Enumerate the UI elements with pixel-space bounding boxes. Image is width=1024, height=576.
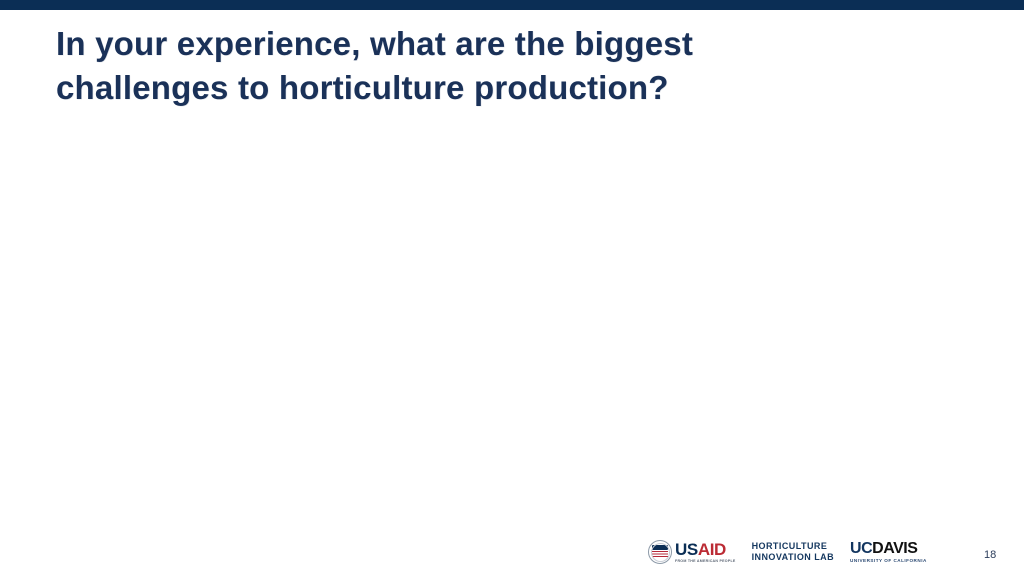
top-accent-bar (0, 0, 1024, 10)
slide-body-content (56, 130, 968, 520)
usaid-tagline: FROM THE AMERICAN PEOPLE (675, 558, 736, 564)
ucdavis-subtitle: UNIVERSITY OF CALIFORNIA (850, 557, 927, 564)
page-number: 18 (984, 548, 996, 562)
usaid-seal-icon (648, 540, 672, 564)
usaid-wordmark: USAID FROM THE AMERICAN PEOPLE (675, 541, 736, 564)
horticulture-innovation-lab-logo: HORTICULTURE INNOVATION LAB (752, 541, 834, 563)
uc-davis-logo: UCDAVIS UNIVERSITY OF CALIFORNIA (850, 541, 927, 564)
title-block: In your experience, what are the biggest… (56, 22, 886, 110)
presentation-slide: In your experience, what are the biggest… (0, 0, 1024, 576)
usaid-wordmark-aid: AID (698, 540, 726, 559)
ucdavis-wordmark-davis: DAVIS (872, 540, 917, 557)
ucdavis-wordmark-uc: UC (850, 540, 872, 557)
footer-logo-bar: USAID FROM THE AMERICAN PEOPLE HORTICULT… (648, 534, 1024, 570)
usaid-wordmark-us: US (675, 540, 698, 559)
slide-title: In your experience, what are the biggest… (56, 22, 886, 110)
usaid-logo: USAID FROM THE AMERICAN PEOPLE (648, 539, 736, 565)
